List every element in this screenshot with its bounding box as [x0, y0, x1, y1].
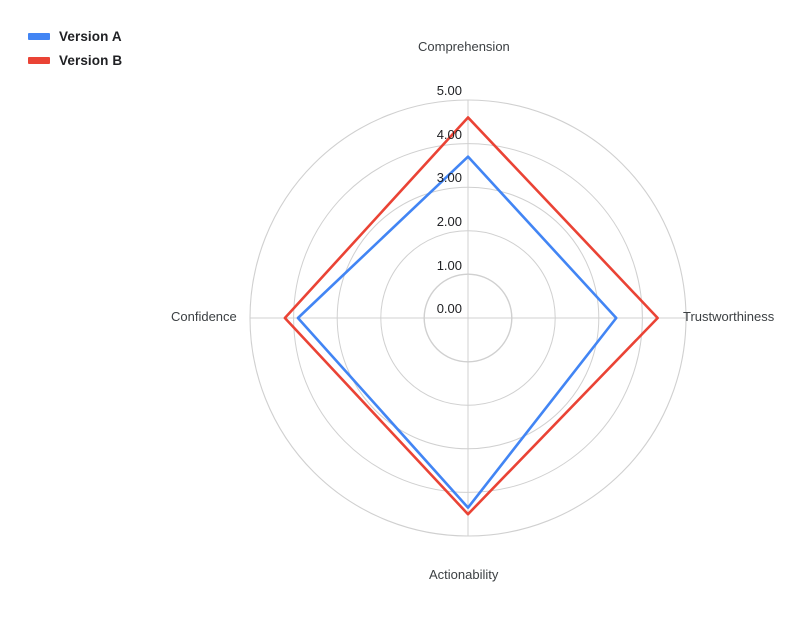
radial-tick-4: 4.00 [429, 127, 462, 142]
legend-item-version-a[interactable]: Version A [28, 28, 122, 44]
series-polygon-version-b [285, 117, 658, 514]
legend-swatch-version-b [28, 57, 50, 64]
axis-label-comprehension: Comprehension [418, 39, 510, 54]
radial-tick-3: 3.00 [429, 170, 462, 185]
legend-swatch-version-a [28, 33, 50, 40]
chart-legend: Version A Version B [28, 28, 122, 68]
radial-tick-0: 0.00 [429, 301, 462, 316]
legend-item-version-b[interactable]: Version B [28, 52, 122, 68]
series-layer [285, 117, 658, 514]
series-polygon-version-a [298, 157, 616, 508]
legend-label-version-b: Version B [59, 53, 122, 68]
legend-label-version-a: Version A [59, 29, 122, 44]
axis-label-confidence: Confidence [171, 309, 237, 324]
axis-label-trustworthiness: Trustworthiness [683, 309, 774, 324]
radial-grid-spokes [250, 100, 686, 536]
radial-tick-2: 2.00 [429, 214, 462, 229]
radial-tick-5: 5.00 [429, 83, 462, 98]
radial-tick-1: 1.00 [429, 258, 462, 273]
axis-label-actionability: Actionability [429, 567, 498, 582]
radar-chart: Version A Version B Comprehension Trustw… [0, 0, 811, 632]
